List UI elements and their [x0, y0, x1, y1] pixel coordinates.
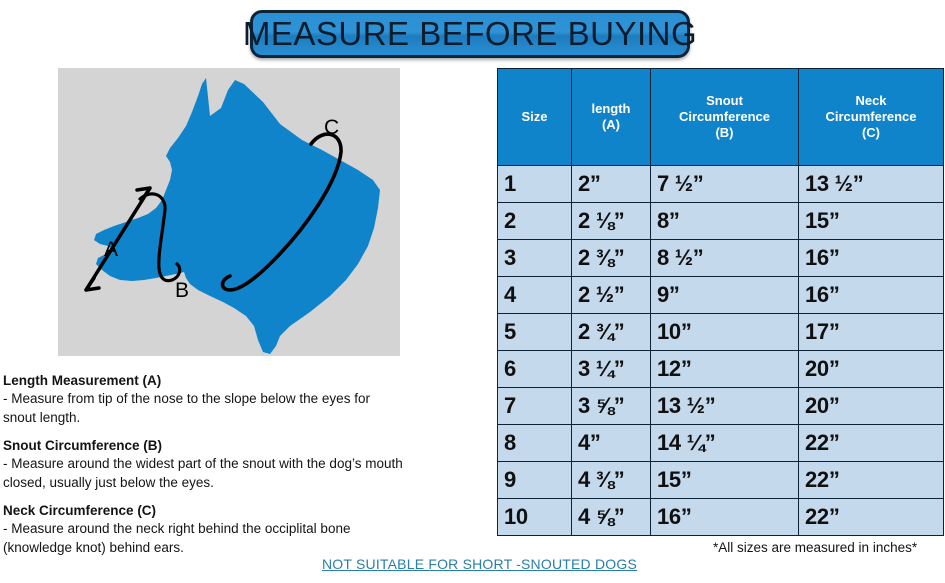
cell-neck: 16” — [799, 277, 944, 314]
table-body: 12”7 ½”13 ½”22 ⅛”8”15”32 ⅜”8 ½”16”42 ½”9… — [498, 166, 944, 536]
cell-snout: 15” — [651, 462, 799, 499]
instruction-heading: Neck Circumference (C) — [3, 502, 493, 520]
cell-length: 2 ⅜” — [572, 240, 651, 277]
cell-neck: 17” — [799, 314, 944, 351]
instruction-block-b: Snout Circumference (B) - Measure around… — [3, 437, 493, 493]
cell-snout: 12” — [651, 351, 799, 388]
table-header-row: Size length (A) Snout Circumference (B) … — [498, 69, 944, 166]
cell-snout: 8 ½” — [651, 240, 799, 277]
cell-neck: 22” — [799, 425, 944, 462]
label-c: C — [324, 116, 339, 139]
cell-snout: 7 ½” — [651, 166, 799, 203]
cell-snout: 16” — [651, 499, 799, 536]
cell-length: 4 ⅝” — [572, 499, 651, 536]
label-a: A — [104, 238, 118, 261]
cell-neck: 20” — [799, 388, 944, 425]
cell-neck: 22” — [799, 462, 944, 499]
label-b: B — [175, 279, 189, 302]
table-row: 42 ½”9”16” — [498, 277, 944, 314]
column-header-neck: Neck Circumference (C) — [799, 69, 944, 166]
cell-size: 1 — [498, 166, 572, 203]
cell-size: 3 — [498, 240, 572, 277]
column-header-length: length (A) — [572, 69, 651, 166]
cell-length: 2 ¾” — [572, 314, 651, 351]
cell-length: 2” — [572, 166, 651, 203]
table-header: Size length (A) Snout Circumference (B) … — [498, 69, 944, 166]
cell-snout: 13 ½” — [651, 388, 799, 425]
dog-measurement-diagram: A B C — [58, 68, 400, 356]
cell-neck: 13 ½” — [799, 166, 944, 203]
cell-size: 10 — [498, 499, 572, 536]
cell-size: 2 — [498, 203, 572, 240]
table-row: 22 ⅛”8”15” — [498, 203, 944, 240]
cell-size: 9 — [498, 462, 572, 499]
cell-size: 5 — [498, 314, 572, 351]
cell-snout: 14 ¼” — [651, 425, 799, 462]
cell-snout: 8” — [651, 203, 799, 240]
table-row: 52 ¾”10”17” — [498, 314, 944, 351]
table-row: 32 ⅜”8 ½”16” — [498, 240, 944, 277]
instruction-heading: Snout Circumference (B) — [3, 437, 493, 455]
cell-neck: 22” — [799, 499, 944, 536]
page-title-banner: MEASURE BEFORE BUYING — [250, 10, 690, 58]
cell-snout: 10” — [651, 314, 799, 351]
instruction-body: - Measure around the neck right behind t… — [3, 520, 493, 558]
cell-snout: 9” — [651, 277, 799, 314]
table-row: 104 ⅝”16”22” — [498, 499, 944, 536]
not-suitable-warning-link[interactable]: NOT SUITABLE FOR SHORT -SNOUTED DOGS — [322, 556, 637, 572]
table-row: 63 ¼”12”20” — [498, 351, 944, 388]
units-footnote: *All sizes are measured in inches* — [713, 540, 917, 555]
dog-head-illustration: A B C — [58, 68, 400, 356]
table-row: 12”7 ½”13 ½” — [498, 166, 944, 203]
cell-neck: 15” — [799, 203, 944, 240]
instruction-block-a: Length Measurement (A) - Measure from ti… — [3, 372, 493, 428]
cell-neck: 20” — [799, 351, 944, 388]
instruction-block-c: Neck Circumference (C) - Measure around … — [3, 502, 493, 558]
cell-length: 3 ¼” — [572, 351, 651, 388]
cell-length: 4” — [572, 425, 651, 462]
cell-size: 7 — [498, 388, 572, 425]
page-title: MEASURE BEFORE BUYING — [243, 15, 697, 53]
cell-size: 6 — [498, 351, 572, 388]
cell-length: 3 ⅝” — [572, 388, 651, 425]
measurement-instructions: Length Measurement (A) - Measure from ti… — [3, 372, 493, 567]
cell-neck: 16” — [799, 240, 944, 277]
cell-length: 2 ½” — [572, 277, 651, 314]
column-header-snout: Snout Circumference (B) — [651, 69, 799, 166]
cell-size: 8 — [498, 425, 572, 462]
cell-size: 4 — [498, 277, 572, 314]
cell-length: 2 ⅛” — [572, 203, 651, 240]
table-row: 84”14 ¼”22” — [498, 425, 944, 462]
table-row: 73 ⅝”13 ½”20” — [498, 388, 944, 425]
cell-length: 4 ⅜” — [572, 462, 651, 499]
size-chart-table: Size length (A) Snout Circumference (B) … — [497, 68, 944, 536]
column-header-size: Size — [498, 69, 572, 166]
instruction-body: - Measure around the widest part of the … — [3, 455, 493, 493]
table-row: 94 ⅜”15”22” — [498, 462, 944, 499]
instruction-body: - Measure from tip of the nose to the sl… — [3, 390, 493, 428]
instruction-heading: Length Measurement (A) — [3, 372, 493, 390]
